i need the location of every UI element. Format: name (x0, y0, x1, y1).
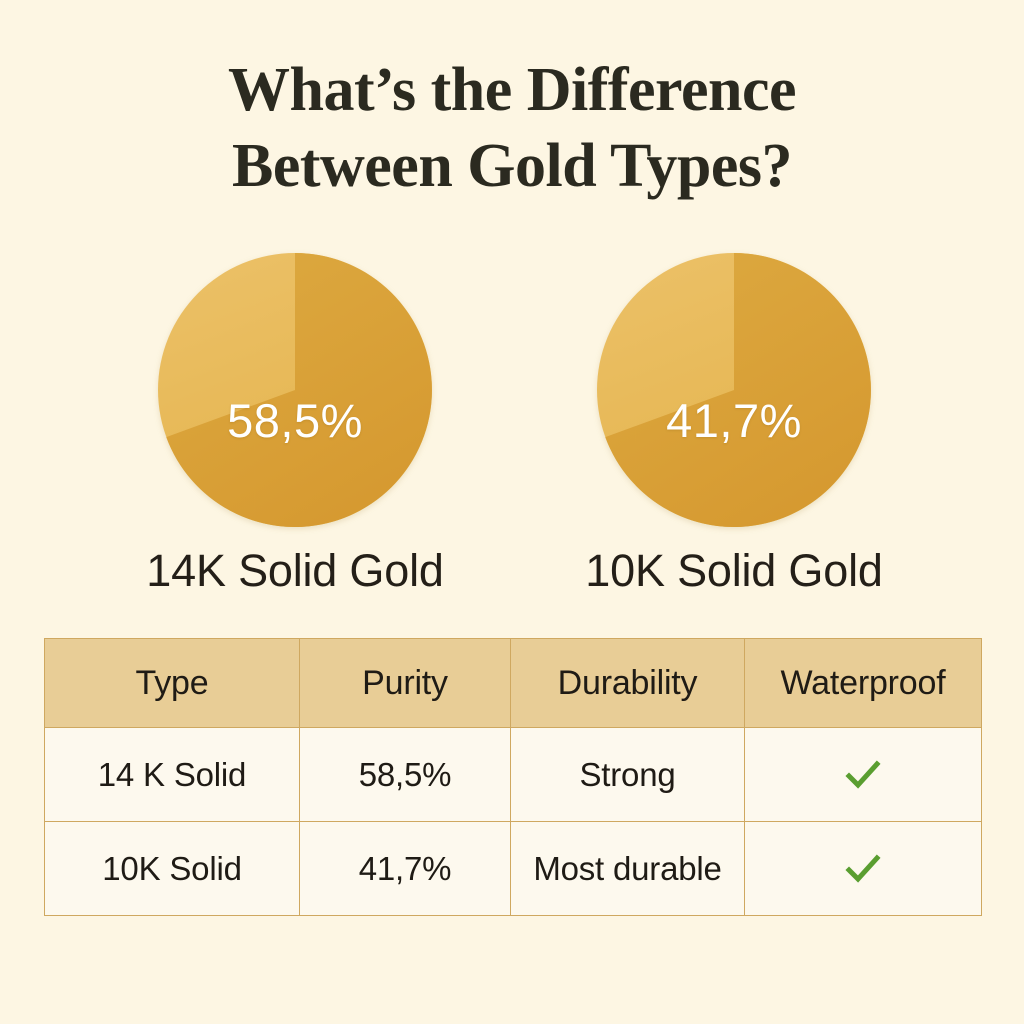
page-title: What’s the Difference Between Gold Types… (0, 52, 1024, 204)
table-header-row: Type Purity Durability Waterproof (45, 639, 982, 728)
pie-chart-14k-label: 14K Solid Gold (80, 545, 510, 597)
cell-waterproof (745, 728, 982, 822)
pie-chart-10k-value: 41,7% (597, 393, 871, 448)
check-icon (843, 755, 883, 795)
column-header-purity: Purity (300, 639, 511, 728)
table-row: 14 K Solid 58,5% Strong (45, 728, 982, 822)
pie-chart-group: 58,5% 41,7% (0, 253, 1024, 533)
check-icon (843, 849, 883, 889)
pie-chart-10k: 41,7% (597, 253, 871, 527)
table-row: 10K Solid 41,7% Most durable (45, 822, 982, 916)
column-header-durability: Durability (511, 639, 745, 728)
pie-chart-14k-graphic (158, 253, 432, 527)
cell-waterproof (745, 822, 982, 916)
cell-type: 10K Solid (45, 822, 300, 916)
cell-purity: 58,5% (300, 728, 511, 822)
pie-chart-14k-value: 58,5% (158, 393, 432, 448)
cell-type: 14 K Solid (45, 728, 300, 822)
cell-durability: Strong (511, 728, 745, 822)
column-header-waterproof: Waterproof (745, 639, 982, 728)
pie-chart-14k: 58,5% (158, 253, 432, 527)
pie-chart-10k-graphic (597, 253, 871, 527)
cell-durability: Most durable (511, 822, 745, 916)
column-header-type: Type (45, 639, 300, 728)
pie-chart-10k-label: 10K Solid Gold (519, 545, 949, 597)
cell-purity: 41,7% (300, 822, 511, 916)
gold-comparison-table: Type Purity Durability Waterproof 14 K S… (44, 638, 982, 916)
infographic-canvas: What’s the Difference Between Gold Types… (0, 0, 1024, 1024)
